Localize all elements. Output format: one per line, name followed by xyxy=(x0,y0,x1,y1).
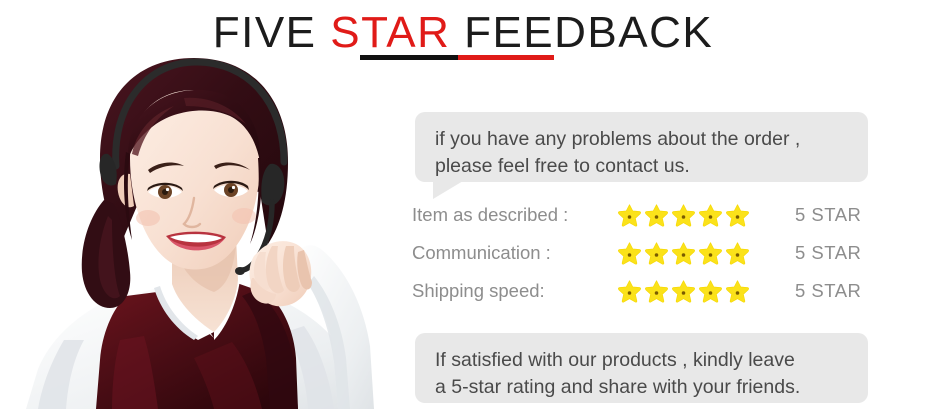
star-icon xyxy=(617,279,642,304)
satisfaction-message-bubble: If satisfied with our products , kindly … xyxy=(415,333,868,403)
rating-label-shipping-speed: Shipping speed: xyxy=(412,280,617,302)
star-icon xyxy=(671,241,696,266)
star-icon xyxy=(698,203,723,228)
title-part-two: FEEDBACK xyxy=(450,8,713,57)
title-underline-red-segment xyxy=(458,55,554,60)
star-rating-communication xyxy=(617,241,787,266)
rating-row: Shipping speed: 5 STAR xyxy=(412,272,882,310)
customer-service-agent-illustration xyxy=(8,40,378,409)
star-icon xyxy=(644,241,669,266)
satisfaction-message-line-1: If satisfied with our products , kindly … xyxy=(435,347,848,374)
star-icon xyxy=(725,279,750,304)
star-icon xyxy=(725,203,750,228)
rating-value: 5 STAR xyxy=(787,204,861,226)
star-icon xyxy=(671,203,696,228)
rating-label-item-as-described: Item as described : xyxy=(412,204,617,226)
star-icon xyxy=(644,203,669,228)
five-star-feedback-banner: FIVE STAR FEEDBACK xyxy=(0,0,926,409)
ratings-list: Item as described : 5 STAR Communication… xyxy=(412,196,882,310)
headset-mic xyxy=(235,267,245,275)
rating-value: 5 STAR xyxy=(787,280,861,302)
support-message-line-1: if you have any problems about the order… xyxy=(435,126,848,153)
star-rating-shipping-speed xyxy=(617,279,787,304)
rating-row: Item as described : 5 STAR xyxy=(412,196,882,234)
star-icon xyxy=(617,203,642,228)
rating-value: 5 STAR xyxy=(787,242,861,264)
star-icon xyxy=(644,279,669,304)
support-message-line-2: please feel free to contact us. xyxy=(435,153,848,180)
star-icon xyxy=(617,241,642,266)
rating-label-communication: Communication : xyxy=(412,242,617,264)
star-rating-item-as-described xyxy=(617,203,787,228)
star-icon xyxy=(725,241,750,266)
satisfaction-message-line-2: a 5-star rating and share with your frie… xyxy=(435,374,848,401)
star-icon xyxy=(698,241,723,266)
title-underline xyxy=(360,55,554,60)
rating-row: Communication : 5 STAR xyxy=(412,234,882,272)
star-icon xyxy=(671,279,696,304)
support-message-bubble: if you have any problems about the order… xyxy=(415,112,868,182)
star-icon xyxy=(698,279,723,304)
